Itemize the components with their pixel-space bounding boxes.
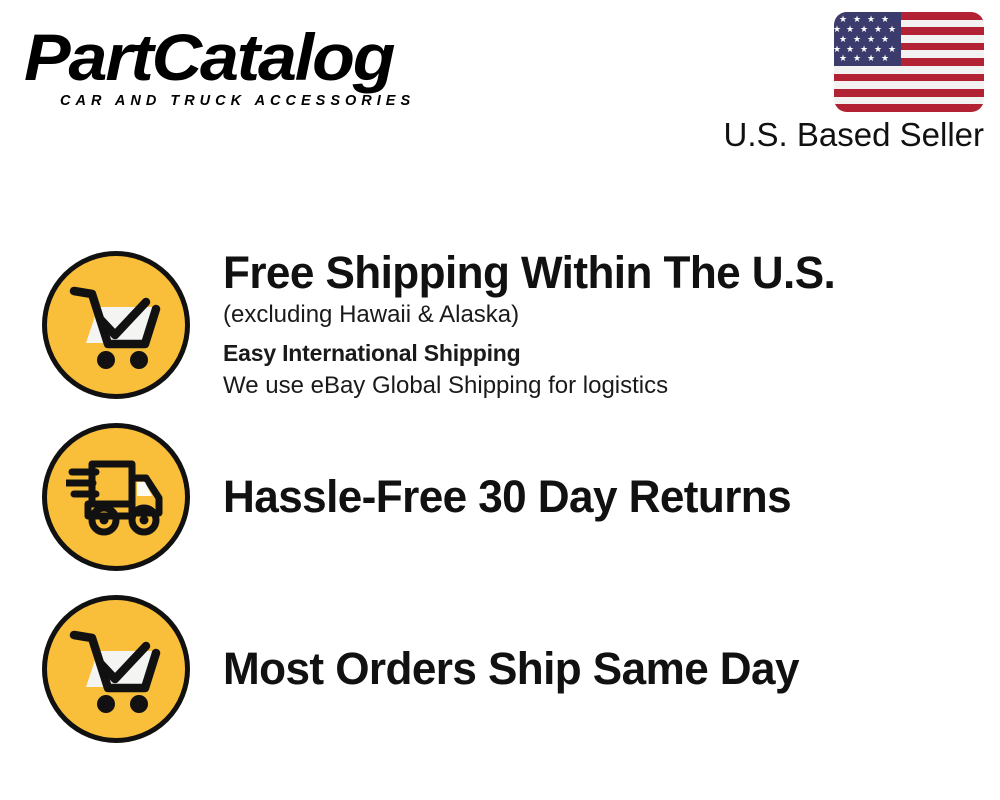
flag-star: ★	[881, 55, 889, 64]
flag-star: ★	[860, 26, 868, 35]
flag-star: ★	[853, 16, 861, 25]
flag-stripe	[834, 66, 984, 74]
feature-row: Most Orders Ship Same Day	[0, 591, 1000, 746]
banner-header: PartCatalog CAR AND TRUCK ACCESSORIES ★	[0, 0, 1000, 175]
delivery-truck-icon	[42, 423, 190, 571]
shopping-cart-check-icon	[42, 251, 190, 399]
feature-substrong: Easy International Shipping	[223, 336, 980, 370]
feature-heading: Most Orders Ship Same Day	[223, 643, 965, 695]
flag-stripe	[834, 81, 984, 89]
flag-star: ★	[834, 26, 841, 35]
us-based-seller-block: ★ ★ ★ ★ ★ ★ ★ ★ ★ ★ ★ ★ ★ ★ ★ ★ ★	[684, 12, 984, 154]
flag-star: ★	[867, 55, 875, 64]
feature-row: Free Shipping Within The U.S. (excluding…	[0, 247, 1000, 402]
flag-star: ★	[867, 16, 875, 25]
flag-star: ★	[853, 36, 861, 45]
us-based-seller-label: U.S. Based Seller	[684, 116, 984, 154]
brand-logo: PartCatalog CAR AND TRUCK ACCESSORIES	[24, 22, 494, 109]
feature-text: Most Orders Ship Same Day	[223, 643, 1000, 695]
feature-text: Free Shipping Within The U.S. (excluding…	[223, 247, 1000, 402]
feature-heading: Hassle-Free 30 Day Returns	[223, 471, 965, 523]
flag-star: ★	[846, 26, 854, 35]
flag-stripe	[834, 89, 984, 97]
feature-subdetail: We use eBay Global Shipping for logistic…	[223, 370, 980, 402]
flag-star: ★	[839, 16, 847, 25]
flag-star: ★	[881, 36, 889, 45]
flag-star: ★	[881, 16, 889, 25]
flag-canton: ★ ★ ★ ★ ★ ★ ★ ★ ★ ★ ★ ★ ★ ★ ★ ★ ★	[834, 12, 901, 66]
logo-wordmark: PartCatalog	[24, 22, 522, 92]
feature-subnote: (excluding Hawaii & Alaska)	[223, 299, 980, 331]
logo-tagline: CAR AND TRUCK ACCESSORIES	[60, 93, 494, 109]
flag-star: ★	[874, 26, 882, 35]
us-flag-icon: ★ ★ ★ ★ ★ ★ ★ ★ ★ ★ ★ ★ ★ ★ ★ ★ ★	[834, 12, 984, 112]
flag-star: ★	[839, 55, 847, 64]
feature-heading: Free Shipping Within The U.S.	[223, 247, 965, 299]
flag-star: ★	[888, 46, 896, 55]
flag-stripe	[834, 104, 984, 112]
flag-star: ★	[853, 55, 861, 64]
flag-star: ★	[867, 36, 875, 45]
flag-stripe	[834, 74, 984, 82]
flag-star: ★	[839, 36, 847, 45]
shopping-cart-check-icon	[42, 595, 190, 743]
feature-text: Hassle-Free 30 Day Returns	[223, 471, 1000, 523]
flag-stripe	[834, 97, 984, 105]
promo-banner: PartCatalog CAR AND TRUCK ACCESSORIES ★	[0, 0, 1000, 800]
flag-star: ★	[888, 26, 896, 35]
feature-row: Hassle-Free 30 Day Returns	[0, 419, 1000, 574]
